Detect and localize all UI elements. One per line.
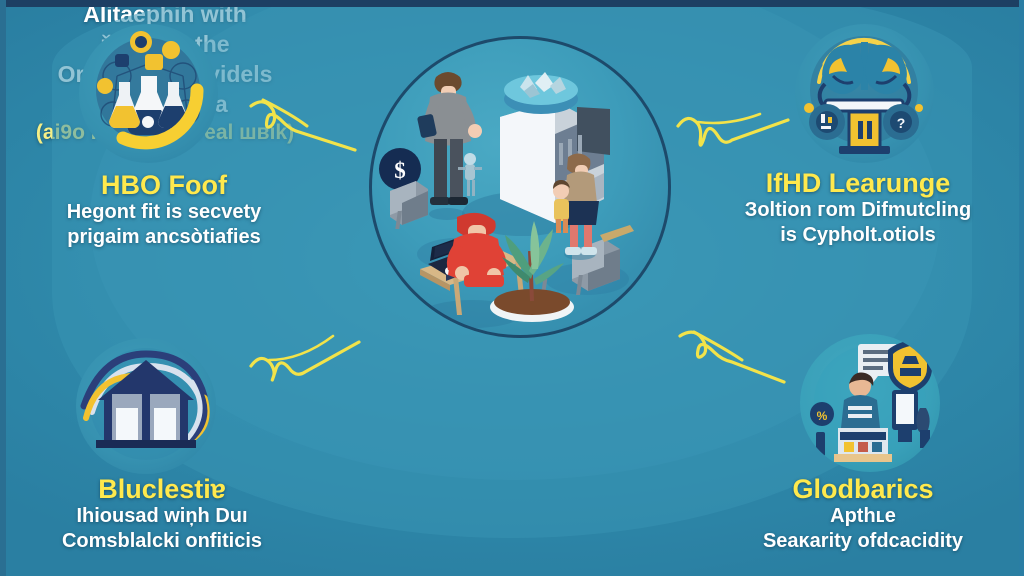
body-line-bottom-right-2: Seaĸarity ofdcacidity [698, 529, 1024, 553]
body-line-top-right-1: Зoltion гom Difmutcling [688, 198, 1024, 222]
isometric-community-scene-icon: $ [372, 39, 668, 335]
connector-arrow-bottom-right [672, 322, 794, 398]
svg-text:?: ? [897, 115, 906, 131]
svg-text:%: % [817, 409, 828, 423]
squiggle-arrow-right-icon [672, 322, 794, 398]
lab-flasks-network-icon [79, 24, 218, 163]
frame-right-edge [1019, 0, 1024, 576]
svg-text:$: $ [394, 158, 406, 183]
squiggle-arrow-right-icon [243, 318, 365, 394]
body-line-bottom-right-1: Apthʟe [698, 504, 1024, 528]
brain-pedestal-gears-icon: ? [795, 24, 934, 163]
squiggle-arrow-right-icon [243, 88, 365, 164]
text-block-top-left: HBO Foof Hegont fit is secvety prigaim a… [0, 170, 334, 249]
text-block-bottom-right: Glodbarics Apthʟe Seaĸarity ofdcacidity [698, 474, 1024, 553]
body-line-bottom-left-1: Ihiousad wiņh Duı [0, 504, 332, 528]
frame-left-edge [0, 0, 6, 576]
center-illustration-circle: $ [369, 36, 671, 338]
squiggle-arrow-right-icon [672, 92, 794, 168]
connector-arrow-top-right [672, 92, 794, 168]
body-line-top-left-1: Hegont fit is secvety [0, 200, 334, 224]
heading-bottom-left: Bluclestiɐ [0, 474, 332, 504]
heading-top-right: IfHD Learunge [688, 168, 1024, 198]
house-with-ribbons-icon [76, 338, 216, 474]
heading-bottom-right: Glodbarics [698, 474, 1024, 504]
infographic-canvas: $ [0, 0, 1024, 576]
connector-arrow-top-left [243, 88, 365, 164]
body-line-bottom-left-2: Comsblalcki onfiticis [0, 529, 332, 553]
body-line-top-right-2: is Cypholt.otiols [688, 223, 1024, 247]
icon-circle-top-left [79, 24, 218, 163]
text-block-top-right: IfHD Learunge Зoltion гom Difmutcling is… [688, 168, 1024, 247]
text-block-bottom-left: Bluclestiɐ Ihiousad wiņh Duı Comsblalcki… [0, 474, 332, 553]
heading-top-left: HBO Foof [0, 170, 334, 200]
frame-top-edge [0, 0, 1024, 7]
icon-circle-bottom-right: % [800, 334, 940, 472]
body-line-top-left-2: prigaim ancsòtiafies [0, 225, 334, 249]
icon-circle-bottom-left [76, 338, 216, 474]
person-desk-shield-icon: % [800, 334, 940, 472]
icon-circle-top-right: ? [795, 24, 934, 163]
connector-arrow-bottom-left [243, 318, 365, 394]
